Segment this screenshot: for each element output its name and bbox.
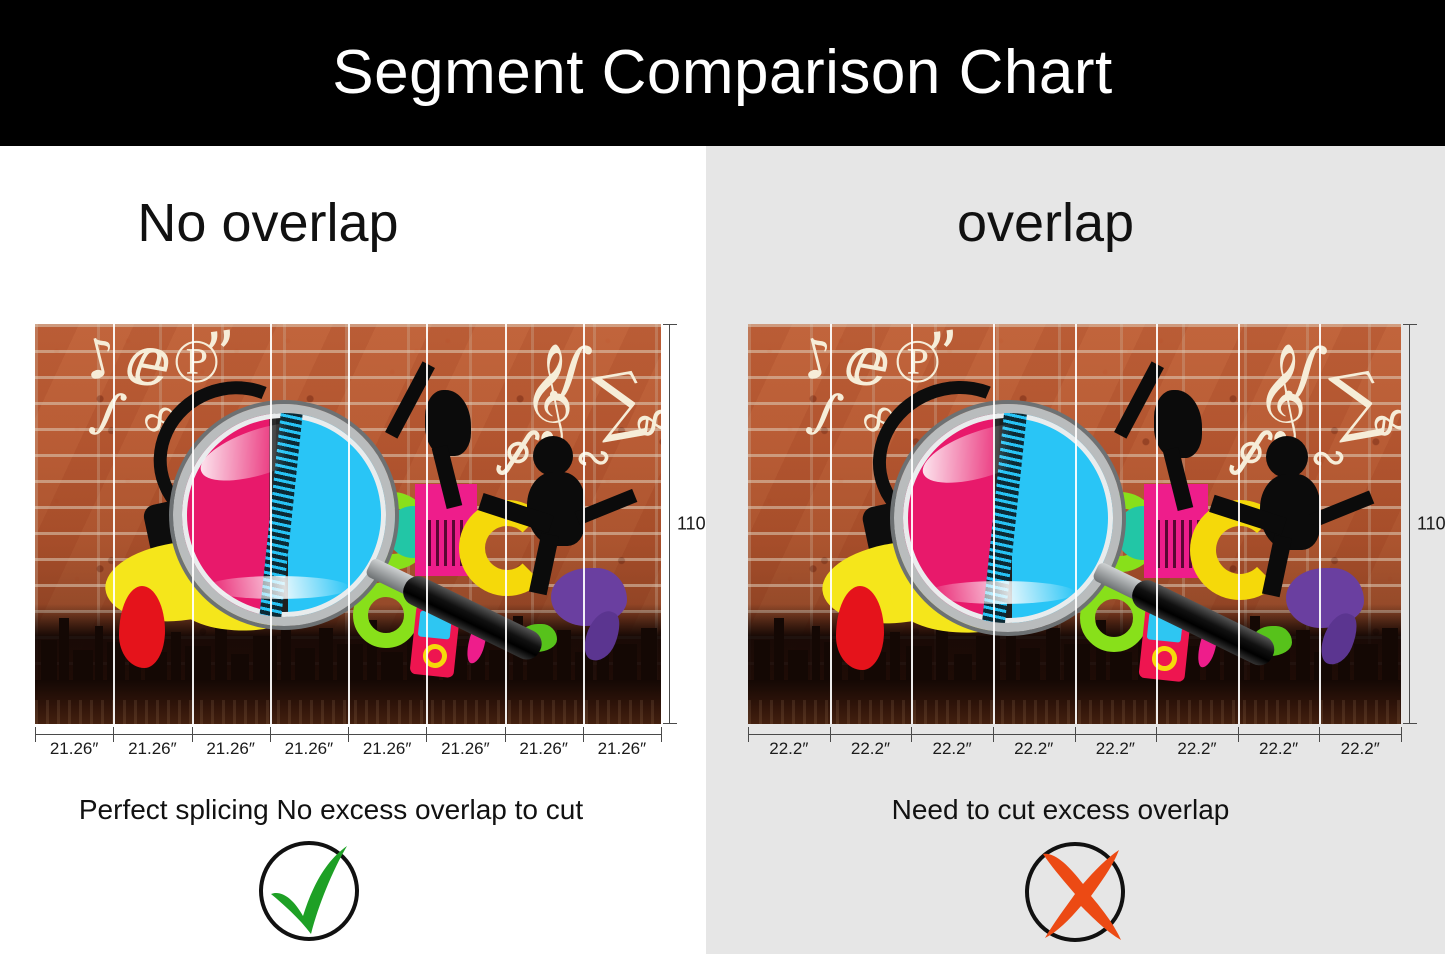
- dancer-silhouette-kicking: [1266, 436, 1308, 478]
- height-ruler-cap-top: [1403, 324, 1417, 325]
- magnifier-highlight: [194, 411, 328, 493]
- height-ruler-line: [669, 324, 670, 724]
- segment-label: 21.26″: [505, 739, 583, 759]
- height-ruler-cap-bottom: [663, 723, 677, 724]
- red-paint-splash: [119, 586, 165, 668]
- panel-no-overlap: No overlap ♪ ⅇ ℗ ” ∫ ∞ 𝄞 ∫ ∑ ∮ ∞: [0, 146, 706, 954]
- panel-heading-overlap: overlap: [706, 196, 1445, 250]
- segment-divider: [1319, 324, 1321, 724]
- segment-label: 22.2″: [1075, 739, 1157, 759]
- panel-heading-no-overlap: No overlap: [0, 196, 706, 250]
- segment-divider: [348, 324, 350, 724]
- comparison-panels: No overlap ♪ ⅇ ℗ ” ∫ ∞ 𝄞 ∫ ∑ ∮ ∞: [0, 146, 1445, 954]
- segment-divider: [1075, 324, 1077, 724]
- height-label: 110″: [1417, 514, 1445, 535]
- ruler-tick: [1401, 727, 1402, 742]
- ruler-tick: [661, 727, 662, 742]
- segment-comparison-chart: Segment Comparison Chart No overlap ♪ ⅇ …: [0, 0, 1445, 954]
- segment-divider: [270, 324, 272, 724]
- segment-label: 21.26″: [192, 739, 270, 759]
- segment-label: 22.2″: [1238, 739, 1320, 759]
- segment-label: 22.2″: [993, 739, 1075, 759]
- mural-no-overlap: ♪ ⅇ ℗ ” ∫ ∞ 𝄞 ∫ ∑ ∮ ∞ ∾: [35, 324, 661, 724]
- segment-label: 21.26″: [583, 739, 661, 759]
- segment-label-row: 22.2″ 22.2″ 22.2″ 22.2″ 22.2″ 22.2″ 22.2…: [748, 739, 1401, 759]
- height-ruler-overlap: 110″: [1401, 324, 1445, 724]
- height-ruler-line: [1409, 324, 1410, 724]
- page-title: Segment Comparison Chart: [332, 42, 1112, 104]
- magnifier-lens: [173, 404, 395, 626]
- segment-label: 22.2″: [830, 739, 912, 759]
- caption-no-overlap: Perfect splicing No excess overlap to cu…: [0, 796, 706, 824]
- segment-divider: [993, 324, 995, 724]
- magnifier-highlight: [928, 581, 1075, 604]
- segment-label: 21.26″: [35, 739, 113, 759]
- magnifying-glass-icon: [894, 404, 1122, 632]
- segment-divider: [505, 324, 507, 724]
- magnifier-highlight: [916, 411, 1054, 495]
- segment-divider: [911, 324, 913, 724]
- segment-label-row: 21.26″ 21.26″ 21.26″ 21.26″ 21.26″ 21.26…: [35, 739, 661, 759]
- segment-divider: [1238, 324, 1240, 724]
- segment-divider: [583, 324, 585, 724]
- width-ruler-overlap: 22.2″ 22.2″ 22.2″ 22.2″ 22.2″ 22.2″ 22.2…: [748, 724, 1401, 770]
- segment-label: 22.2″: [1319, 739, 1401, 759]
- magnifier-lens: [894, 404, 1122, 632]
- dancer-silhouette-kicking: [533, 436, 573, 476]
- segment-label: 22.2″: [748, 739, 830, 759]
- title-bar: Segment Comparison Chart: [0, 0, 1445, 146]
- red-paint-splash: [836, 586, 884, 670]
- segment-label: 22.2″: [1156, 739, 1238, 759]
- segment-divider: [1156, 324, 1158, 724]
- panel-overlap: overlap ♪ ⅇ ℗ ” ∫ ∞ 𝄞 ∫ ∑ ∮ ∞ ∾: [706, 146, 1445, 954]
- segment-divider: [830, 324, 832, 724]
- segment-divider: [113, 324, 115, 724]
- segment-label: 21.26″: [113, 739, 191, 759]
- green-check-icon: [255, 836, 371, 948]
- magnifier-highlight: [206, 576, 349, 598]
- graffiti-brick-wall-image: ♪ ⅇ ℗ ” ∫ ∞ 𝄞 ∫ ∑ ∮ ∞ ∾: [35, 324, 661, 724]
- segment-label: 22.2″: [911, 739, 993, 759]
- music-note-swirl-icon: ∾: [575, 436, 612, 480]
- segment-divider: [192, 324, 194, 724]
- mural-overlap: ♪ ⅇ ℗ ” ∫ ∞ 𝄞 ∫ ∑ ∮ ∞ ∾: [748, 324, 1401, 724]
- segment-label: 21.26″: [270, 739, 348, 759]
- graffiti-brick-wall-image: ♪ ⅇ ℗ ” ∫ ∞ 𝄞 ∫ ∑ ∮ ∞ ∾: [748, 324, 1401, 724]
- orange-cross-icon: [1021, 836, 1137, 948]
- height-ruler-cap-bottom: [1403, 723, 1417, 724]
- segment-divider: [426, 324, 428, 724]
- height-ruler-cap-top: [663, 324, 677, 325]
- magnifying-glass-icon: [173, 404, 395, 626]
- caption-overlap: Need to cut excess overlap: [706, 796, 1445, 824]
- segment-label: 21.26″: [426, 739, 504, 759]
- segment-label: 21.26″: [348, 739, 426, 759]
- music-note-swirl-icon: ∾: [1310, 436, 1347, 480]
- width-ruler-no-overlap: 21.26″ 21.26″ 21.26″ 21.26″ 21.26″ 21.26…: [35, 724, 661, 770]
